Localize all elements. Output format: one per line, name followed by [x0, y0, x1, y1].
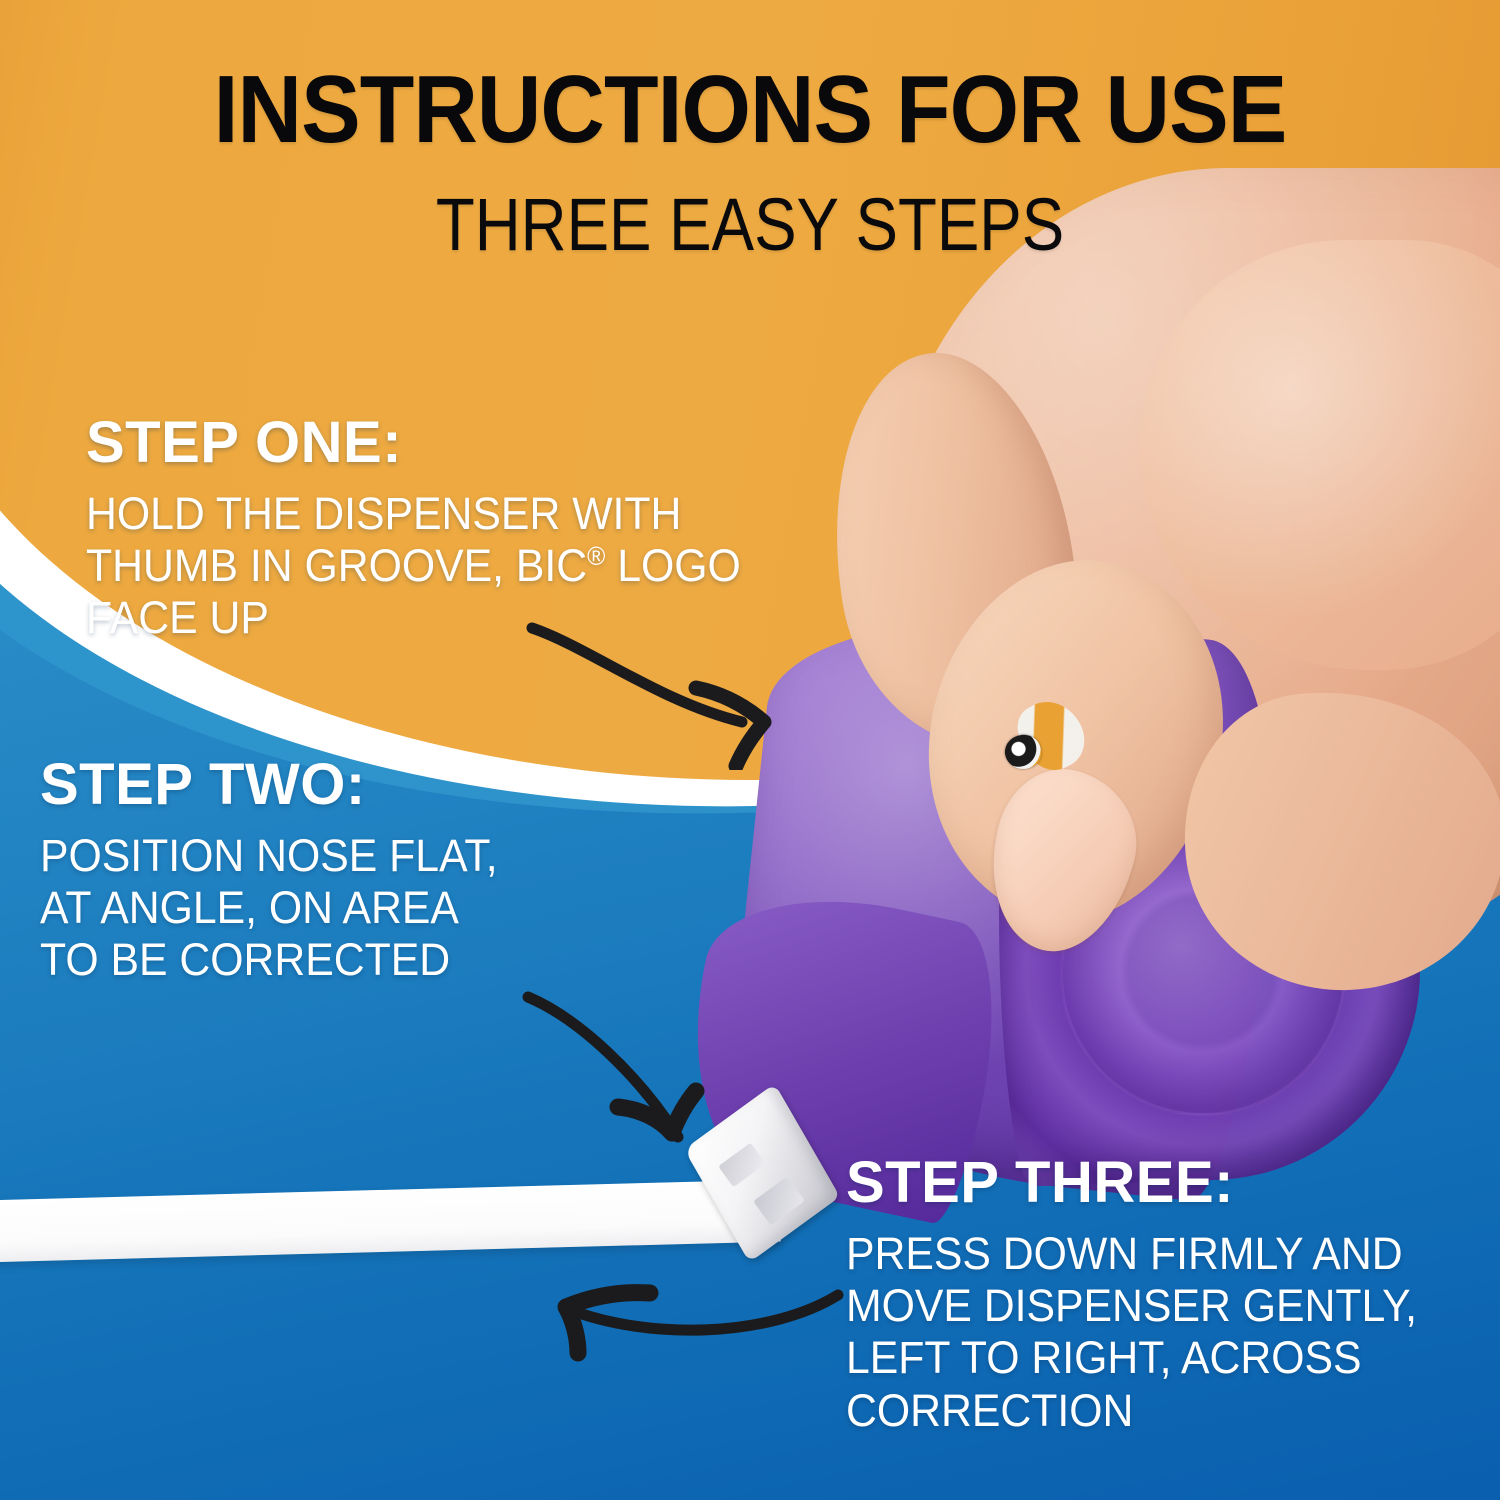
arrow-down-right-icon: [520, 985, 770, 1165]
arrow-right-icon: [520, 610, 820, 770]
instructions-poster: INSTRUCTIONS FOR USE THREE EASY STEPS ST…: [0, 0, 1500, 1500]
arrow-left-icon: [520, 1255, 850, 1375]
